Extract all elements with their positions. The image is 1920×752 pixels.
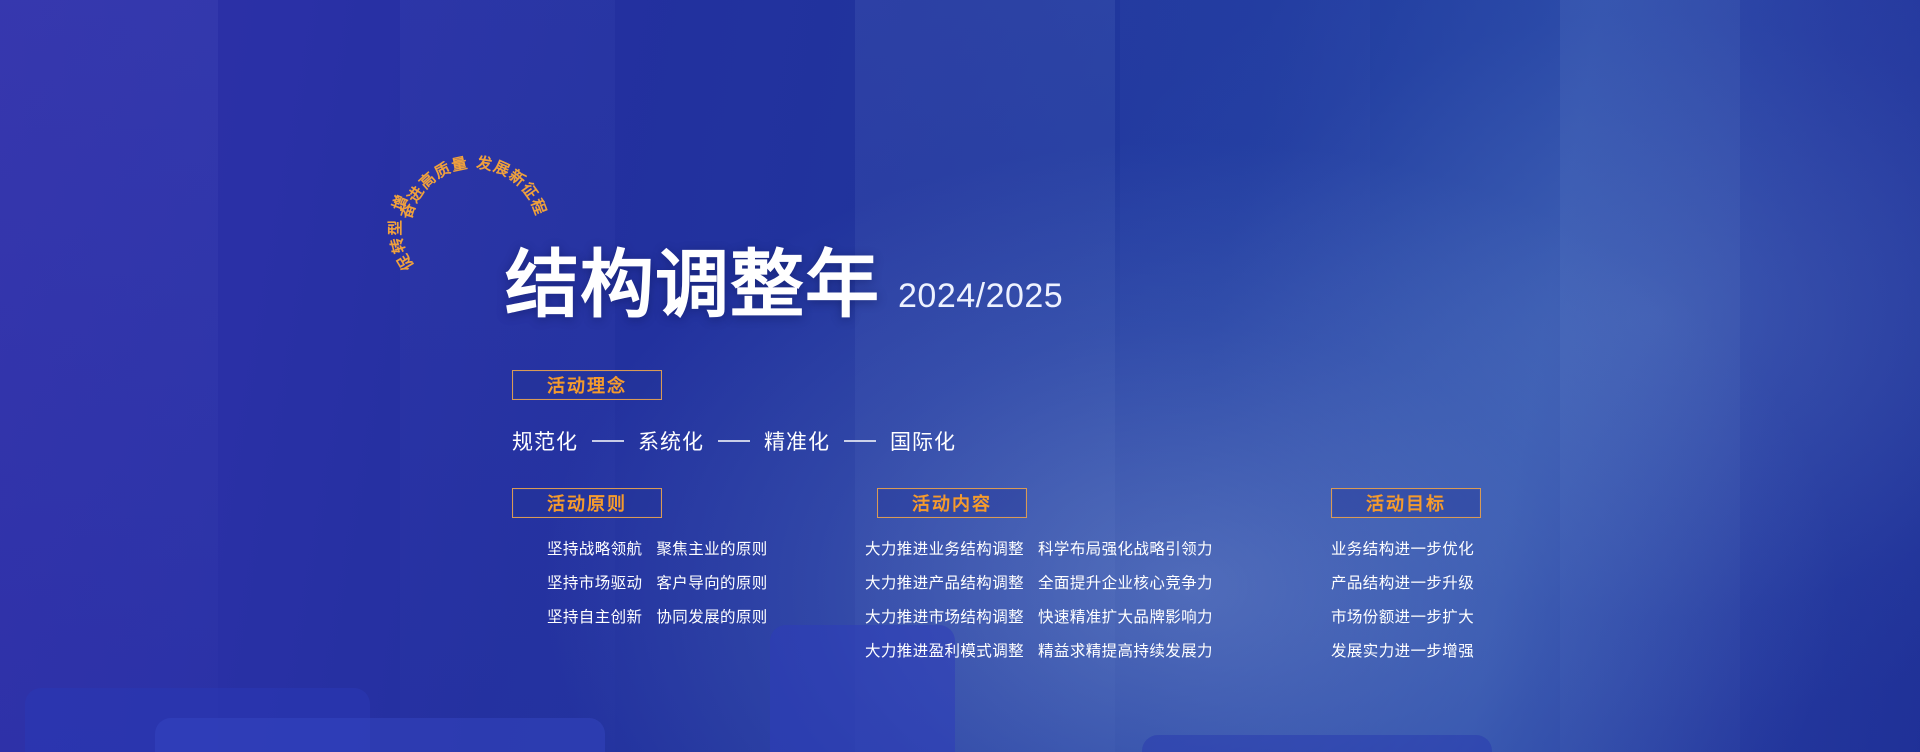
row-left: 坚持战略领航 xyxy=(547,537,642,559)
list-item: 坚持市场驱动 客户导向的原则 xyxy=(547,571,768,593)
list-item: 大力推进业务结构调整 科学布局强化战略引领力 xyxy=(865,537,1213,559)
row-right: 精益求精提高持续发展力 xyxy=(1038,639,1213,661)
concept-item-3: 国际化 xyxy=(890,426,956,456)
row-right: 全面提升企业核心竞争力 xyxy=(1038,571,1213,593)
concept-item-1: 系统化 xyxy=(638,426,704,456)
row-left: 大力推进盈利模式调整 xyxy=(865,639,1024,661)
badge-content-label: 活动内容 xyxy=(912,490,992,516)
title-row: 结构调整年 2024/2025 xyxy=(505,248,1063,322)
row-left: 坚持自主创新 xyxy=(547,605,642,627)
row-left: 发展实力进一步增强 xyxy=(1331,639,1474,661)
concept-separator-icon xyxy=(592,440,624,442)
badge-principles-label: 活动原则 xyxy=(547,490,627,516)
badge-goals-label: 活动目标 xyxy=(1366,490,1446,516)
column-principles: 坚持战略领航 聚焦主业的原则 坚持市场驱动 客户导向的原则 坚持自主创新 协同发… xyxy=(547,537,768,639)
campaign-banner: 奋进高质量 发展新征程 促转型 增动能 结构调整年 2024/2025 活动理念… xyxy=(0,0,1920,752)
row-right: 客户导向的原则 xyxy=(656,571,767,593)
row-left: 市场份额进一步扩大 xyxy=(1331,605,1474,627)
row-left: 大力推进市场结构调整 xyxy=(865,605,1024,627)
column-goals: 业务结构进一步优化 产品结构进一步升级 市场份额进一步扩大 发展实力进一步增强 xyxy=(1331,537,1474,673)
row-right: 聚焦主业的原则 xyxy=(656,537,767,559)
bg-block-right xyxy=(1142,735,1492,752)
row-left: 大力推进业务结构调整 xyxy=(865,537,1024,559)
row-left: 业务结构进一步优化 xyxy=(1331,537,1474,559)
concept-list: 规范化 系统化 精准化 国际化 xyxy=(512,426,956,456)
list-item: 大力推进盈利模式调整 精益求精提高持续发展力 xyxy=(865,639,1213,661)
list-item: 市场份额进一步扩大 xyxy=(1331,605,1474,627)
list-item: 大力推进产品结构调整 全面提升企业核心竞争力 xyxy=(865,571,1213,593)
badge-goals: 活动目标 xyxy=(1331,488,1481,518)
list-item: 业务结构进一步优化 xyxy=(1331,537,1474,559)
concept-item-0: 规范化 xyxy=(512,426,578,456)
seal-text-top: 奋进高质量 发展新征程 xyxy=(396,153,550,223)
badge-content: 活动内容 xyxy=(877,488,1027,518)
bg-block-left-wide xyxy=(25,688,370,752)
badge-concept-label: 活动理念 xyxy=(547,372,627,398)
row-right: 快速精准扩大品牌影响力 xyxy=(1038,605,1213,627)
concept-separator-icon xyxy=(718,440,750,442)
list-item: 大力推进市场结构调整 快速精准扩大品牌影响力 xyxy=(865,605,1213,627)
column-content: 大力推进业务结构调整 科学布局强化战略引领力 大力推进产品结构调整 全面提升企业… xyxy=(865,537,1213,673)
row-left: 大力推进产品结构调整 xyxy=(865,571,1024,593)
bg-band-5 xyxy=(1560,0,1740,752)
page-title: 结构调整年 xyxy=(505,248,880,322)
list-item: 产品结构进一步升级 xyxy=(1331,571,1474,593)
bg-band-6 xyxy=(1740,0,1920,752)
concept-item-2: 精准化 xyxy=(764,426,830,456)
concept-separator-icon xyxy=(844,440,876,442)
list-item: 发展实力进一步增强 xyxy=(1331,639,1474,661)
list-item: 坚持自主创新 协同发展的原则 xyxy=(547,605,768,627)
row-right: 科学布局强化战略引领力 xyxy=(1038,537,1213,559)
row-left: 产品结构进一步升级 xyxy=(1331,571,1474,593)
campaign-year: 2024/2025 xyxy=(898,279,1063,313)
row-right: 协同发展的原则 xyxy=(656,605,767,627)
row-left: 坚持市场驱动 xyxy=(547,571,642,593)
bg-band-1 xyxy=(0,0,218,752)
bg-block-left-small xyxy=(155,718,605,752)
badge-principles: 活动原则 xyxy=(512,488,662,518)
list-item: 坚持战略领航 聚焦主业的原则 xyxy=(547,537,768,559)
badge-concept: 活动理念 xyxy=(512,370,662,400)
